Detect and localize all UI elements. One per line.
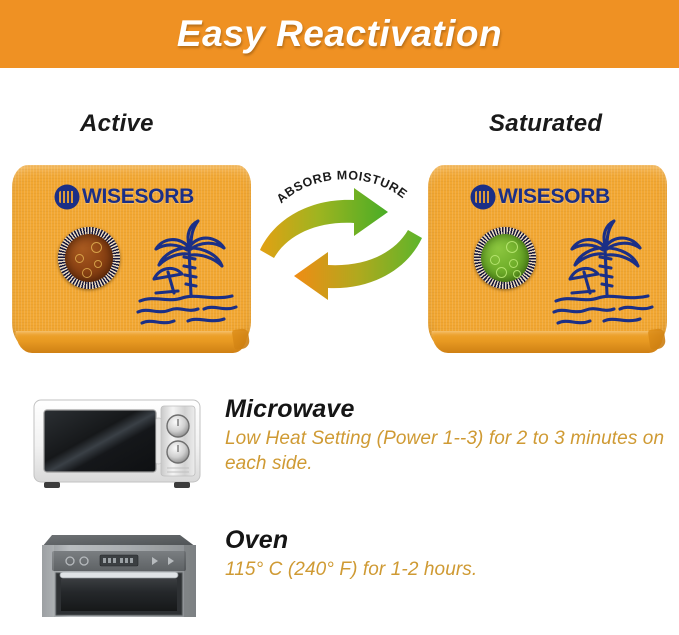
humidity-indicator-saturated [474, 227, 536, 289]
humidity-indicator-active [58, 227, 120, 289]
indicator-bubble [496, 267, 507, 278]
indicator-core [481, 234, 529, 282]
label-active: Active [80, 110, 154, 138]
oven-icon [28, 515, 208, 623]
microwave-text-block: Microwave Low Heat Setting (Power 1--3) … [225, 396, 675, 476]
header-banner: Easy Reactivation [0, 0, 679, 68]
packet-active: WISESORB [12, 165, 251, 355]
packet-saturated: WISESORB [428, 165, 667, 355]
indicator-bubble [75, 254, 84, 263]
wisesorb-logo-icon [56, 186, 78, 208]
microwave-description: Low Heat Setting (Power 1--3) for 2 to 3… [225, 426, 675, 476]
indicator-bubble [82, 268, 92, 278]
indicator-bubble [509, 259, 518, 268]
arrow-reactivate-left [294, 230, 422, 300]
label-saturated: Saturated [489, 110, 602, 138]
indicator-bubble [94, 260, 102, 268]
brand-lockup: WISESORB [472, 185, 610, 209]
wisesorb-logo-icon [472, 186, 494, 208]
oven-title: Oven [225, 527, 675, 553]
indicator-bubble [490, 255, 500, 265]
oven-description: 115° C (240° F) for 1-2 hours. [225, 557, 675, 582]
instruction-row-microwave: Microwave Low Heat Setting (Power 1--3) … [28, 388, 208, 503]
instruction-row-oven: Oven 115° C (240° F) for 1-2 hours. [28, 515, 208, 628]
brand-lockup: WISESORB [56, 185, 194, 209]
oven-text-block: Oven 115° C (240° F) for 1-2 hours. [225, 527, 675, 582]
indicator-bubble [506, 241, 518, 253]
indicator-bubble [513, 270, 521, 278]
page-title: Easy Reactivation [177, 13, 502, 55]
microwave-icon [28, 388, 208, 498]
beach-scene-embroidery-icon [548, 217, 658, 335]
absorb-moisture-cycle: ABSORB MOISTURE [256, 150, 426, 335]
indicator-core [65, 234, 113, 282]
beach-scene-embroidery-icon [132, 217, 242, 335]
brand-name: WISESORB [82, 185, 194, 209]
indicator-bubble [91, 242, 102, 253]
microwave-title: Microwave [225, 396, 675, 422]
brand-name: WISESORB [498, 185, 610, 209]
